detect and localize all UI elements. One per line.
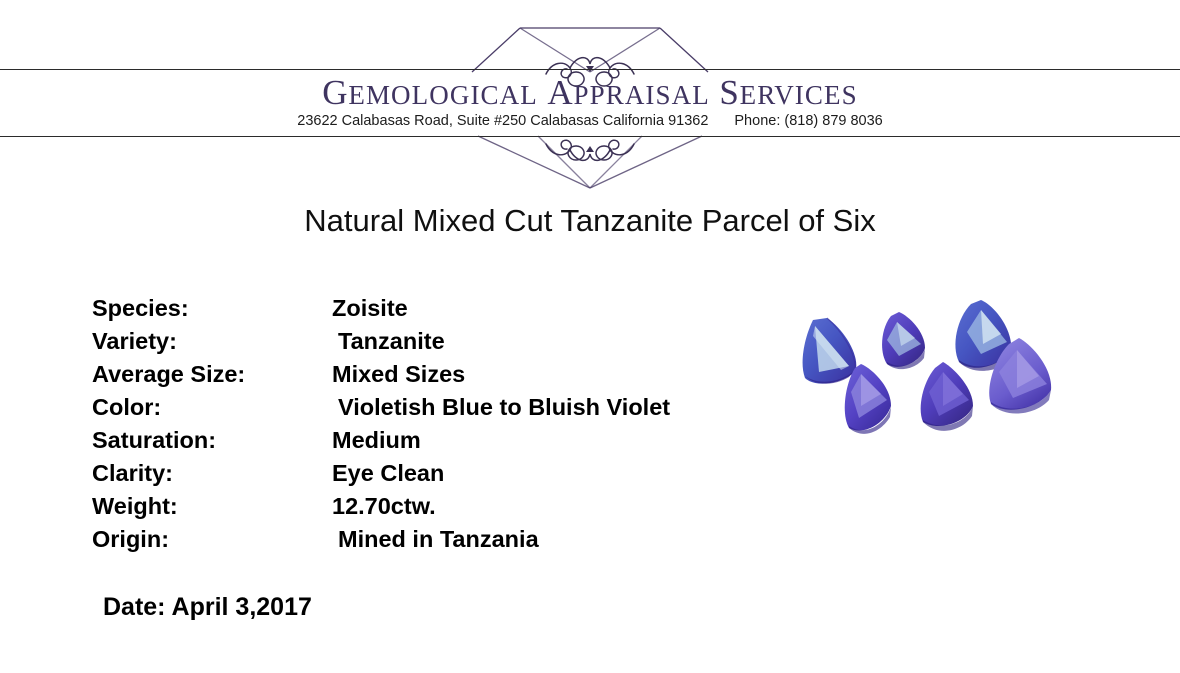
- header-rule-bottom: [0, 136, 1180, 137]
- spec-value: Mixed Sizes: [332, 358, 792, 391]
- company-name: GEMOLOGICAL APPRAISAL SERVICES: [0, 74, 1180, 114]
- company-name-emological: EMOLOGICAL: [348, 80, 537, 110]
- phone-text: Phone: (818) 879 8036: [734, 113, 882, 129]
- spec-label: Saturation:: [92, 424, 332, 457]
- company-name-g: G: [322, 73, 348, 112]
- spec-label: Average Size:: [92, 358, 332, 391]
- gemstone-2: [882, 312, 925, 369]
- gemstone-1: [803, 318, 857, 384]
- appraisal-date: Date: April 3,2017: [103, 590, 312, 624]
- company-name-a: A: [547, 73, 573, 112]
- spec-row-average-size: Average Size: Mixed Sizes: [92, 358, 792, 391]
- spec-value: Mined in Tanzania: [332, 523, 792, 556]
- spec-label: Species:: [92, 292, 332, 325]
- spec-value: Violetish Blue to Bluish Violet: [332, 391, 792, 424]
- spec-row-color: Color: Violetish Blue to Bluish Violet: [92, 391, 792, 424]
- gemstone-illustration-icon: [775, 292, 1060, 467]
- spec-row-weight: Weight: 12.70ctw.: [92, 490, 792, 523]
- spec-row-saturation: Saturation: Medium: [92, 424, 792, 457]
- spec-value: Medium: [332, 424, 792, 457]
- contact-line: 23622 Calabasas Road, Suite #250 Calabas…: [0, 112, 1180, 130]
- letterhead: GEMOLOGICAL APPRAISAL SERVICES 23622 Cal…: [0, 0, 1180, 195]
- spec-row-species: Species: Zoisite: [92, 292, 792, 325]
- address-text: 23622 Calabasas Road, Suite #250 Calabas…: [297, 113, 708, 129]
- specifications-list: Species: Zoisite Variety: Tanzanite Aver…: [92, 292, 792, 556]
- spec-row-clarity: Clarity: Eye Clean: [92, 457, 792, 490]
- spec-label: Clarity:: [92, 457, 332, 490]
- spec-value: Tanzanite: [332, 325, 792, 358]
- gemstone-6: [921, 362, 973, 431]
- spec-row-variety: Variety: Tanzanite: [92, 325, 792, 358]
- company-name-ppraisal: PPRAISAL: [573, 80, 709, 110]
- company-name-ervices: ERVICES: [740, 80, 858, 110]
- appraisal-certificate: GEMOLOGICAL APPRAISAL SERVICES 23622 Cal…: [0, 0, 1180, 673]
- spec-label: Variety:: [92, 325, 332, 358]
- spec-row-origin: Origin: Mined in Tanzania: [92, 523, 792, 556]
- tanzanite-gemstone-parcel-photo: [775, 292, 1060, 467]
- company-name-s: S: [719, 73, 739, 112]
- gemstone-5: [845, 364, 891, 434]
- spec-value: Zoisite: [332, 292, 792, 325]
- spec-value: 12.70ctw.: [332, 490, 792, 523]
- spec-value: Eye Clean: [332, 457, 792, 490]
- spec-label: Color:: [92, 391, 332, 424]
- spec-label: Origin:: [92, 523, 332, 556]
- header-rule-top: [0, 69, 1180, 70]
- spec-label: Weight:: [92, 490, 332, 523]
- document-title: Natural Mixed Cut Tanzanite Parcel of Si…: [0, 200, 1180, 242]
